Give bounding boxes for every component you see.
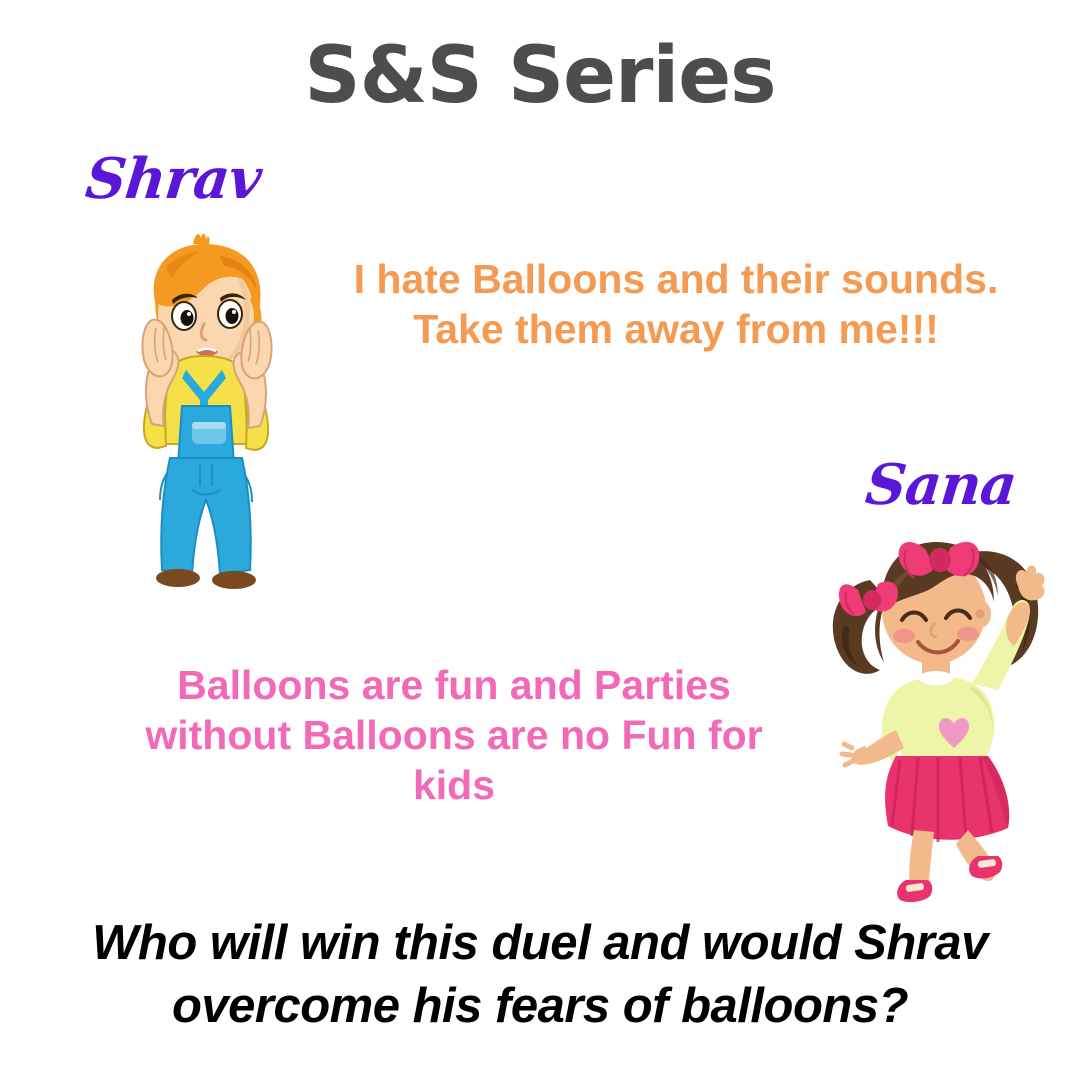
speech-line-3: kids — [78, 760, 830, 810]
speech-line-1: I hate Balloons and their sounds. — [300, 254, 1052, 304]
speech-line-2: without Balloons are no Fun for — [78, 710, 830, 760]
speech-line-2: Take them away from me!!! — [300, 304, 1052, 354]
speech-text-sana: Balloons are fun and Parties without Bal… — [78, 660, 830, 810]
character-illustration-shrav — [100, 228, 310, 600]
speech-line-1: Balloons are fun and Parties — [78, 660, 830, 710]
character-name-shrav: Shrav — [83, 146, 264, 212]
boy-figure-icon — [100, 228, 310, 600]
closing-line-1: Who will win this duel and would Shrav — [30, 912, 1050, 975]
closing-question: Who will win this duel and would Shrav o… — [30, 912, 1050, 1037]
character-illustration-sana — [822, 508, 1072, 904]
girl-figure-icon — [822, 508, 1072, 904]
poster-canvas: S&S Series Shrav — [0, 0, 1080, 1080]
speech-text-shrav: I hate Balloons and their sounds. Take t… — [300, 254, 1052, 354]
page-title: S&S Series — [0, 36, 1080, 118]
closing-line-2: overcome his fears of balloons? — [30, 975, 1050, 1038]
